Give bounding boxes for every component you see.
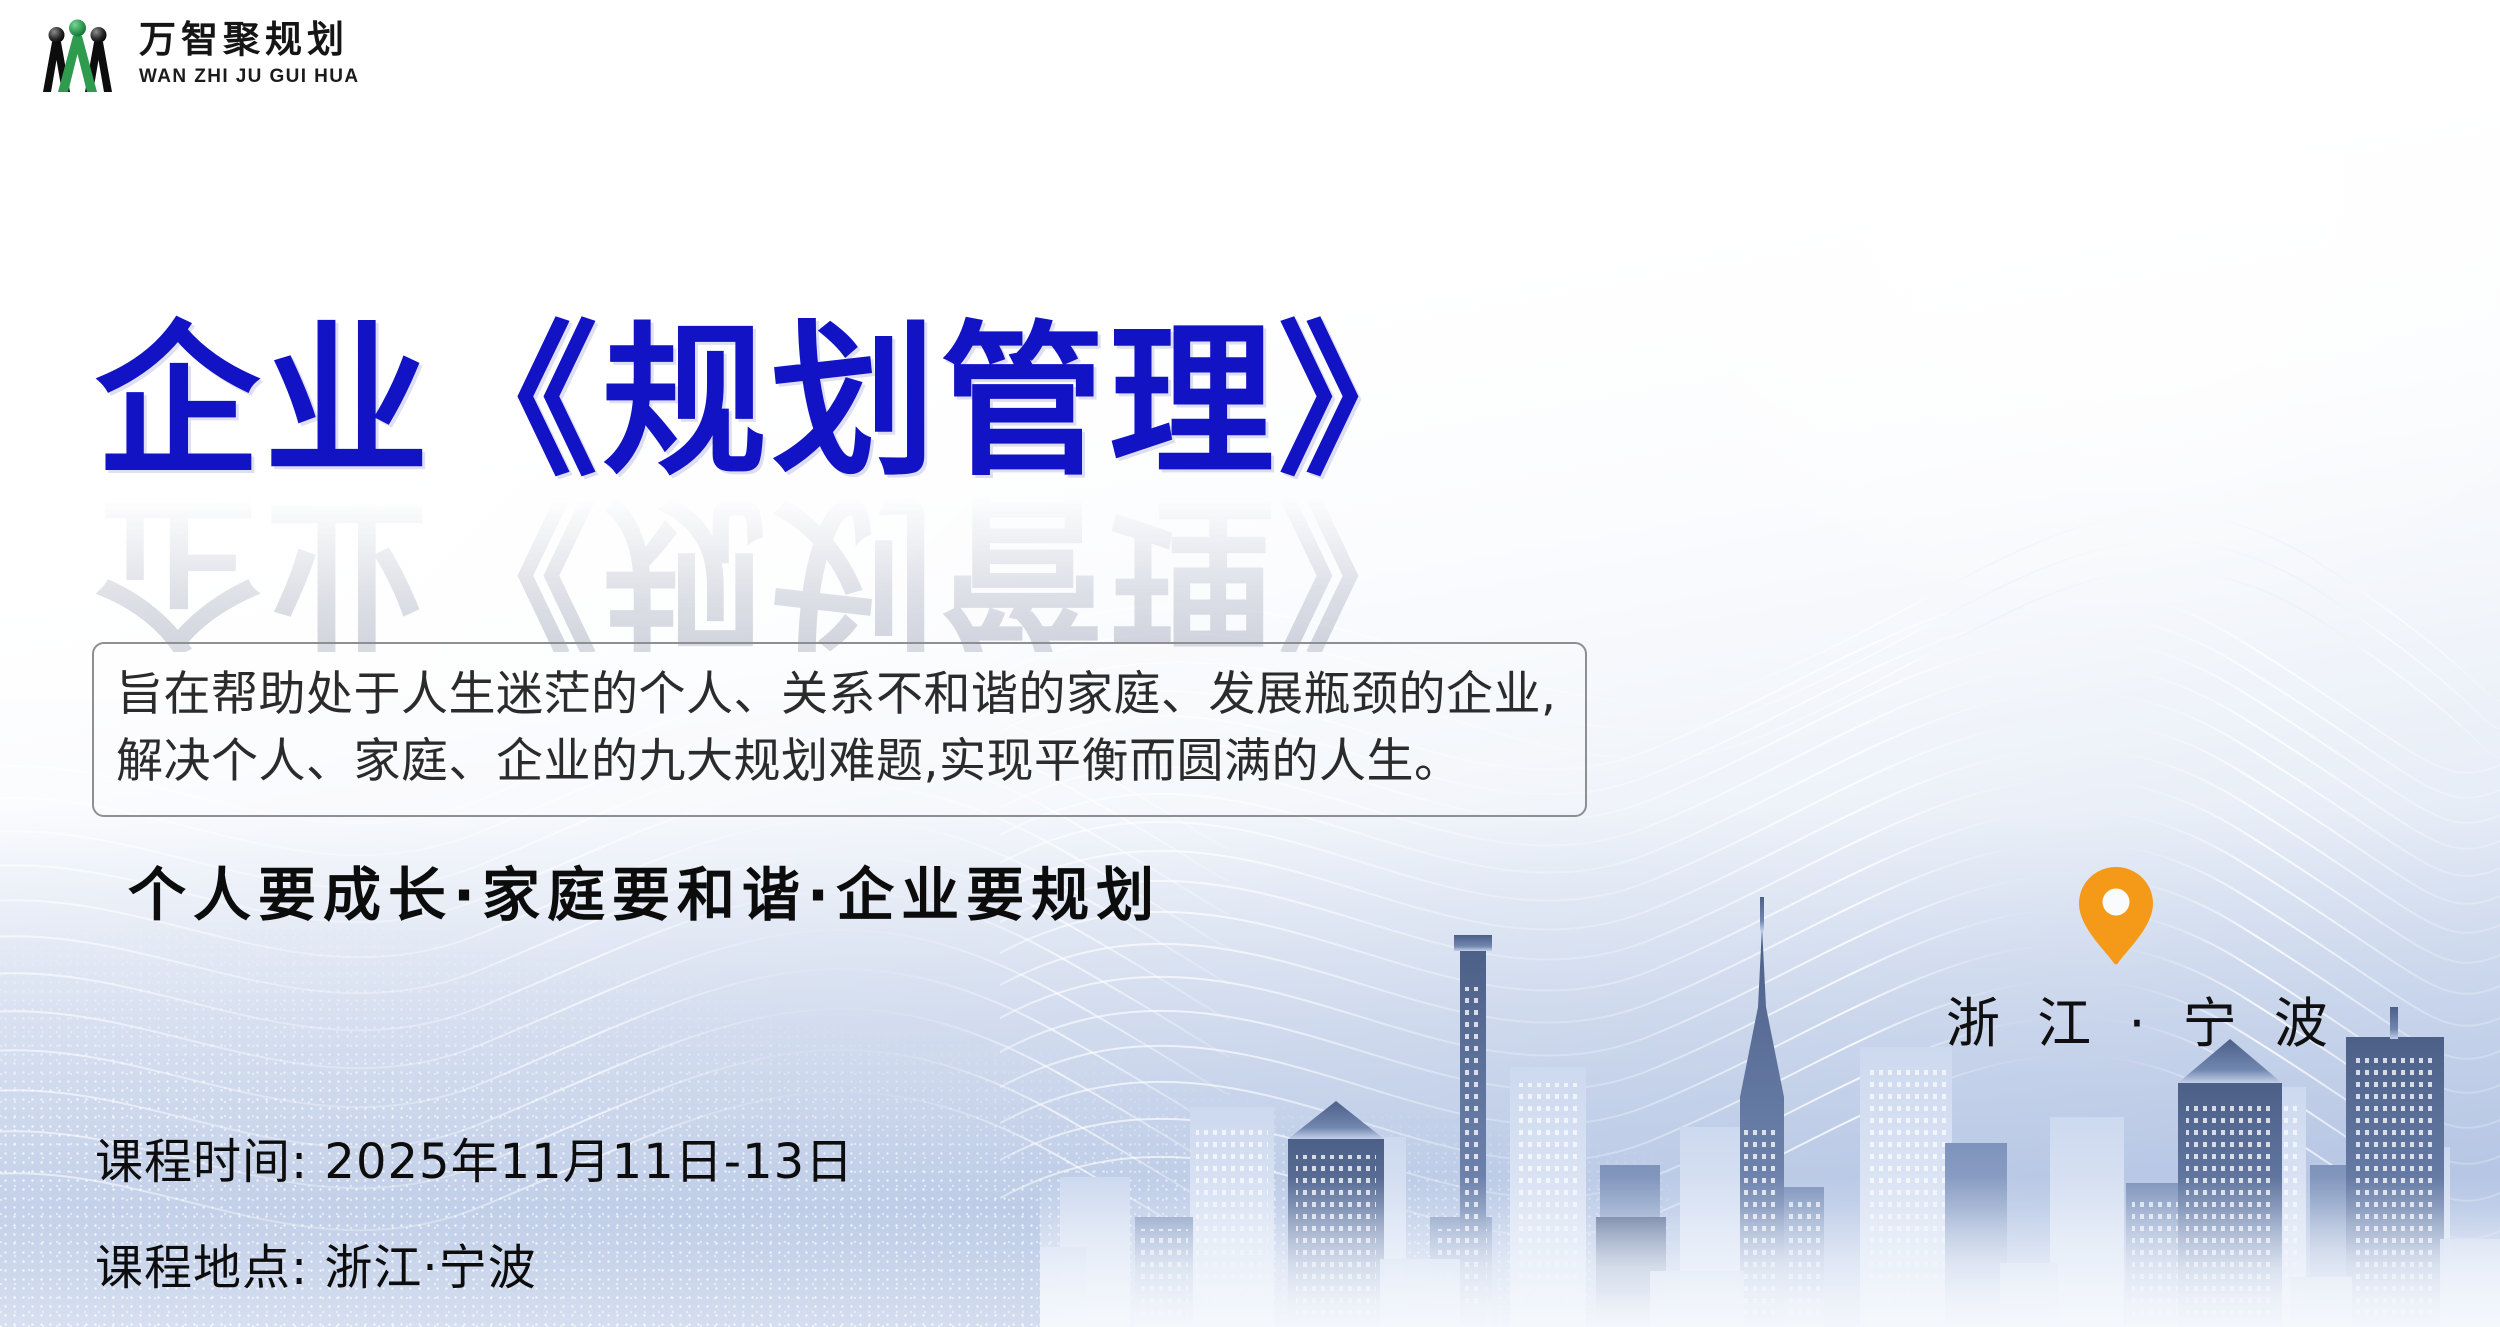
page-title: 企业《规划管理》: [95, 320, 1447, 485]
page-title-reflection: 企业《规划管理》: [95, 487, 1447, 652]
description-line-2: 解决个人、家庭、企业的九大规划难题,实现平衡而圆满的人生。: [116, 729, 1563, 796]
location-marker-block: 浙 江 · 宁 波: [1946, 865, 2286, 1058]
hero-title-block: 企业《规划管理》 企业《规划管理》: [95, 320, 1447, 652]
brand-name-en: WAN ZHI JU GUI HUA: [139, 67, 359, 86]
brand-logo-text: 万智聚规划 WAN ZHI JU GUI HUA: [139, 21, 359, 86]
course-place-row: 课程地点: 浙江·宁波: [95, 1228, 854, 1298]
brand-name-cn: 万智聚规划: [139, 21, 359, 58]
course-time-row: 课程时间: 2025年11月11日-13日: [95, 1122, 854, 1192]
location-label: 浙 江 · 宁 波: [1946, 979, 2286, 1058]
map-pin-icon: [2077, 865, 2155, 965]
description-box: 旨在帮助处于人生迷茫的个人、关系不和谐的家庭、发展瓶颈的企业, 解决个人、家庭、…: [92, 642, 1587, 817]
three-people-mountain-logo-icon: [30, 14, 125, 92]
course-info: 课程时间: 2025年11月11日-13日 课程地点: 浙江·宁波: [95, 1122, 854, 1298]
description-line-1: 旨在帮助处于人生迷茫的个人、关系不和谐的家庭、发展瓶颈的企业,: [116, 662, 1563, 729]
brand-logo[interactable]: 万智聚规划 WAN ZHI JU GUI HUA: [30, 14, 359, 92]
poster-canvas: 万智聚规划 WAN ZHI JU GUI HUA 企业《规划管理》 企业《规划管…: [0, 0, 2500, 1327]
skyline-bottom-fade: [1040, 1177, 2500, 1327]
top-right-glow: [1500, 0, 2500, 640]
tagline: 个人要成长·家庭要和谐·企业要规划: [128, 848, 1161, 932]
